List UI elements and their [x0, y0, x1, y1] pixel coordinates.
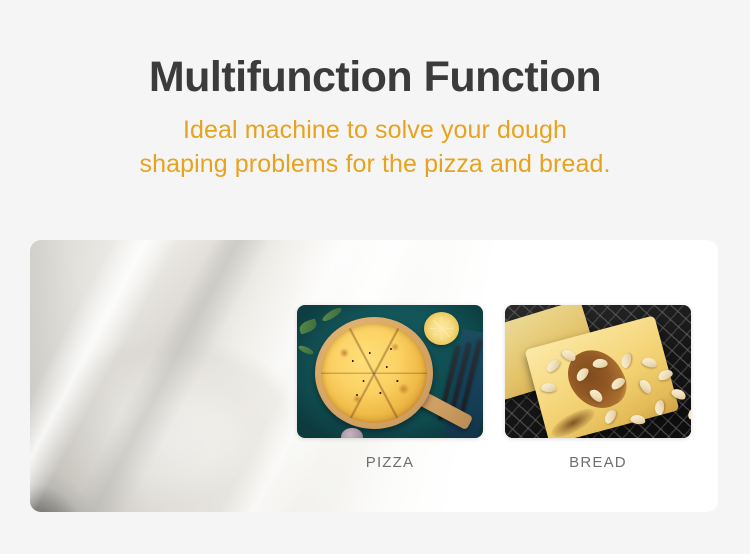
bread-thumbnail-image[interactable]	[505, 305, 691, 438]
product-card-bread[interactable]: BREAD	[505, 305, 691, 471]
header: Multifunction Function Ideal machine to …	[0, 0, 750, 181]
sesame-seeds	[321, 323, 427, 423]
garlic-bulb-icon	[341, 428, 363, 438]
subtitle-line-2: shaping problems for the pizza and bread…	[0, 148, 750, 182]
page-subtitle: Ideal machine to solve your dough shapin…	[0, 114, 750, 181]
herb-sprig-icon	[321, 306, 343, 324]
product-card-pizza[interactable]: PIZZA	[297, 305, 483, 471]
herb-leaf-icon	[298, 318, 319, 334]
baked-crust-edge	[548, 403, 599, 438]
pizza-caption: PIZZA	[366, 454, 415, 471]
promo-banner: Multifunction Function Ideal machine to …	[0, 0, 750, 554]
pizza-thumbnail-image[interactable]	[297, 305, 483, 438]
lemon-half-icon	[424, 312, 459, 345]
subtitle-line-1: Ideal machine to solve your dough	[0, 114, 750, 148]
bread-caption: BREAD	[569, 454, 627, 471]
herb-stem-icon	[297, 344, 314, 356]
showcase-panel: PIZZA	[30, 240, 718, 512]
page-title: Multifunction Function	[0, 54, 750, 100]
product-cards: PIZZA	[297, 305, 689, 471]
